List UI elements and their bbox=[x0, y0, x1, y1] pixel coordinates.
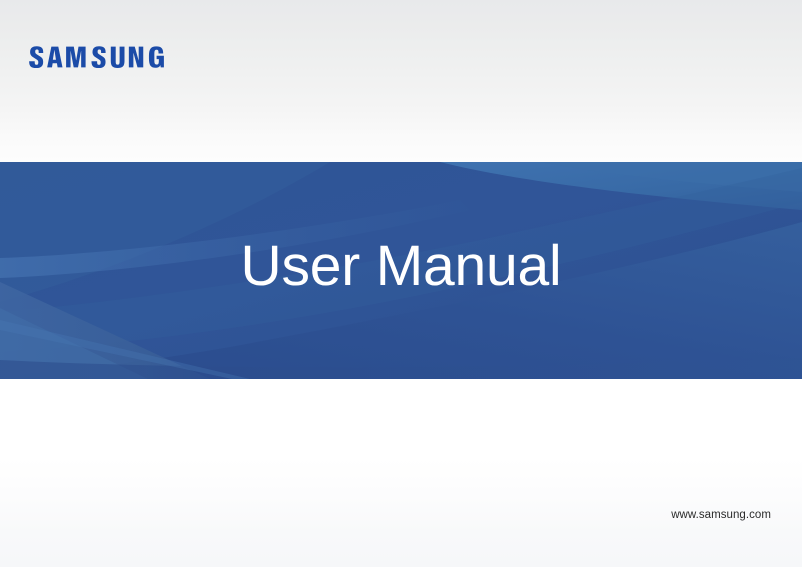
website-url[interactable]: www.samsung.com bbox=[671, 509, 771, 521]
page-header: SAMSUNG bbox=[0, 0, 802, 162]
user-manual-cover-page: SAMSUNG bbox=[0, 0, 802, 567]
page-body bbox=[0, 379, 802, 567]
page-title: User Manual bbox=[0, 162, 802, 379]
samsung-wordmark-logo: SAMSUNG bbox=[29, 42, 172, 72]
cover-banner: User Manual bbox=[0, 162, 802, 379]
